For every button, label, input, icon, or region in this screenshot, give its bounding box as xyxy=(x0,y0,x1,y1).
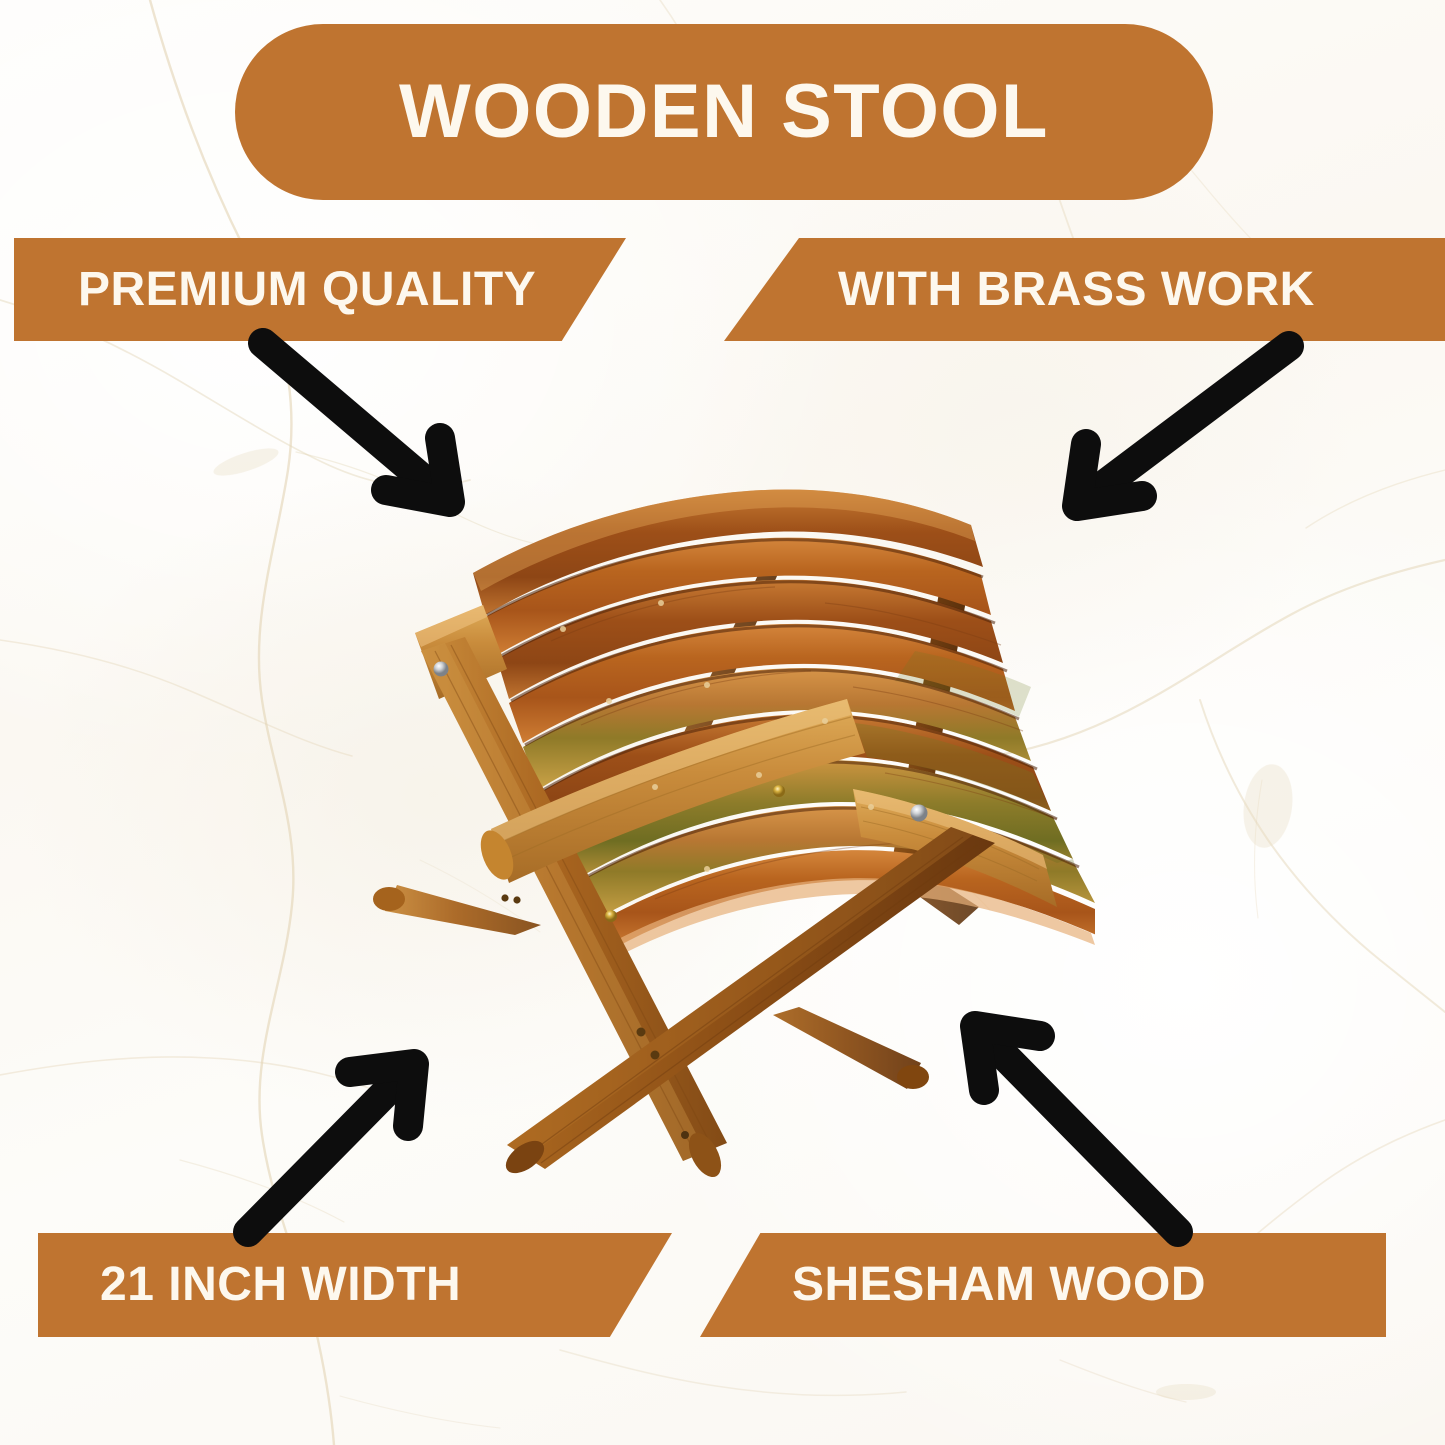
feature-banner-label: 21 INCH WIDTH xyxy=(100,1261,461,1309)
feature-banner-label: PREMIUM QUALITY xyxy=(78,266,536,314)
feature-banner-premium-quality: PREMIUM QUALITY xyxy=(14,238,626,341)
feature-banner-label: SHESHAM WOOD xyxy=(792,1261,1206,1309)
product-infographic: WOODEN STOOL PREMIUM QUALITY WITH BRASS … xyxy=(0,0,1445,1445)
page-title: WOODEN STOOL xyxy=(399,74,1049,150)
feature-banner-inch-width: 21 INCH WIDTH xyxy=(38,1233,672,1337)
feature-banner-brass-work: WITH BRASS WORK xyxy=(724,238,1445,341)
product-image-wooden-stool xyxy=(355,455,1095,1195)
feature-banner-shesham-wood: SHESHAM WOOD xyxy=(700,1233,1386,1337)
feature-banner-label: WITH BRASS WORK xyxy=(838,266,1315,314)
page-title-banner: WOODEN STOOL xyxy=(235,24,1213,200)
